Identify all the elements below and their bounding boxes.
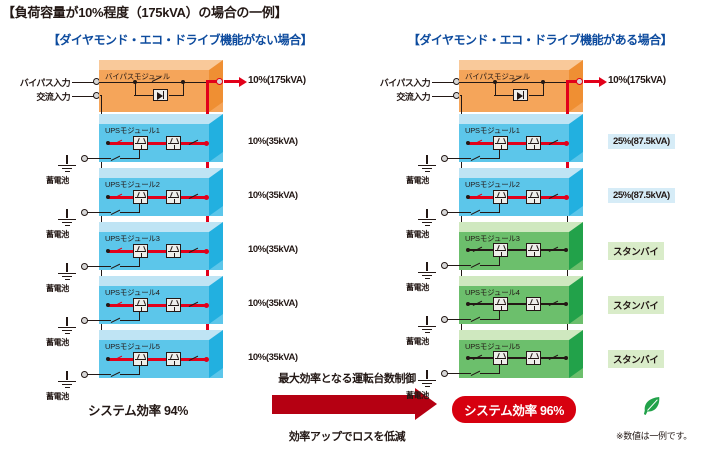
battery-icon-right-2 (418, 215, 436, 227)
ups-module-label-left-1: UPSモジュール1 (105, 125, 160, 136)
module-out-node-right-2 (564, 195, 569, 200)
battery-switch-left-2 (111, 209, 122, 216)
input-label-bypass-right: バイパス入力 (360, 76, 430, 89)
bypass-drop-b-left (183, 82, 184, 96)
module-switch-in-left-3 (113, 247, 124, 254)
battery-switch-left-3 (111, 263, 122, 270)
battery-label-left-5: 蓄電池 (46, 391, 69, 402)
battery-lead-right-5 (445, 373, 471, 374)
battery-switch-left-1 (111, 155, 122, 162)
battery-label-left-1: 蓄電池 (46, 175, 69, 186)
module-switch-in-left-4 (113, 301, 124, 308)
battery-icon-left-3 (58, 269, 76, 281)
battery-icon-left-5 (58, 377, 76, 389)
module-switch-out-right-3 (549, 246, 560, 253)
thyristor-icon-left (153, 89, 168, 101)
converter-a-left-2 (133, 190, 148, 204)
eco-leaf-icon (643, 396, 661, 416)
module-switch-out-left-3 (189, 247, 200, 254)
battery-icon-right-1 (418, 161, 436, 173)
input-lead-ac-right (432, 96, 454, 97)
battery-icon-left-1 (58, 161, 76, 173)
bypass-drop-a-left (135, 82, 136, 96)
battery-line-left-4 (120, 320, 140, 321)
battery-icon-right-5 (418, 376, 436, 388)
module-out-node-left-4 (204, 303, 209, 308)
panel-right: バイパス入力 交流入力 バイパスモジュール 10%(175kVA) UPSモジュ… (360, 0, 720, 449)
battery-label-right-4: 蓄電池 (406, 336, 429, 347)
system-efficiency-right: システム効率 96% (452, 396, 576, 423)
capacity-label-left-3: 10%(35kVA) (248, 244, 298, 255)
battery-lead-left-3 (85, 266, 111, 267)
converter-b-left-1 (166, 136, 181, 150)
battery-line-right-2 (480, 212, 500, 213)
battery-line-right-1 (480, 158, 500, 159)
module-switch-out-left-5 (189, 355, 200, 362)
converter-b-right-4 (526, 297, 541, 311)
battery-terminal-left-3 (81, 263, 88, 270)
battery-terminal-right-5 (441, 370, 448, 377)
output-arrow-right (584, 80, 600, 83)
capacity-label-right-4: スタンバイ (608, 296, 664, 314)
battery-switch-left-4 (111, 317, 122, 324)
battery-lead-left-5 (85, 374, 111, 375)
module-switch-out-left-1 (189, 139, 200, 146)
converter-a-right-4 (493, 297, 508, 311)
battery-line-left-3 (120, 266, 140, 267)
battery-terminal-right-3 (441, 262, 448, 269)
converter-a-left-3 (133, 244, 148, 258)
battery-lead-left-1 (85, 158, 111, 159)
battery-line-left-1 (120, 158, 140, 159)
input-lead-bypass-left (72, 82, 94, 83)
module-out-node-left-5 (204, 357, 209, 362)
module-switch-in-left-1 (113, 139, 124, 146)
capacity-label-left-4: 10%(35kVA) (248, 298, 298, 309)
ups-module-label-left-5: UPSモジュール5 (105, 341, 160, 352)
capacity-label-right-1: 25%(87.5kVA) (608, 134, 675, 149)
battery-lead-right-2 (445, 212, 471, 213)
bypass-lower-a-right (494, 95, 514, 96)
battery-switch-left-5 (111, 371, 122, 378)
battery-terminal-left-5 (81, 371, 88, 378)
output-terminal-left (216, 78, 223, 85)
battery-switch-right-4 (471, 316, 482, 323)
bypass-lower-b-right (529, 95, 544, 96)
module-switch-in-right-1 (473, 139, 484, 146)
bypass-lower-a-left (134, 95, 154, 96)
system-efficiency-left: システム効率 94% (88, 400, 188, 419)
battery-lead-right-4 (445, 319, 471, 320)
module-switch-in-left-5 (113, 355, 124, 362)
bypass-lower-b-left (169, 95, 184, 96)
battery-label-right-3: 蓄電池 (406, 282, 429, 293)
module-switch-in-left-2 (113, 193, 124, 200)
battery-line-right-3 (480, 265, 500, 266)
module-switch-in-right-5 (473, 354, 484, 361)
converter-b-left-4 (166, 298, 181, 312)
module-out-node-right-1 (564, 141, 569, 146)
battery-icon-right-4 (418, 322, 436, 334)
battery-label-left-3: 蓄電池 (46, 283, 69, 294)
capacity-label-left-2: 10%(35kVA) (248, 190, 298, 201)
module-switch-out-right-1 (549, 139, 560, 146)
bypass-switch-left (152, 76, 163, 83)
battery-label-left-4: 蓄電池 (46, 337, 69, 348)
capacity-label-right-5: スタンバイ (608, 350, 664, 368)
battery-line-left-2 (120, 212, 140, 213)
module-switch-out-left-4 (189, 301, 200, 308)
capacity-label-left-5: 10%(35kVA) (248, 352, 298, 363)
battery-terminal-right-4 (441, 316, 448, 323)
battery-switch-right-5 (471, 370, 482, 377)
battery-line-right-5 (480, 373, 500, 374)
converter-a-right-5 (493, 351, 508, 365)
ac-bus-join-right (460, 95, 462, 96)
bypass-module-right: バイパスモジュール (459, 60, 583, 112)
converter-b-left-5 (166, 352, 181, 366)
ups-module-label-right-2: UPSモジュール2 (465, 179, 520, 190)
converter-a-left-5 (133, 352, 148, 366)
output-label-left: 10%(175kVA) (248, 75, 306, 86)
ac-bus-join-left (100, 95, 102, 96)
battery-line-right-4 (480, 319, 500, 320)
battery-terminal-right-2 (441, 209, 448, 216)
module-switch-out-right-2 (549, 193, 560, 200)
input-label-ac-right: 交流入力 (360, 90, 430, 103)
converter-b-left-3 (166, 244, 181, 258)
thyristor-icon-right (513, 89, 528, 101)
battery-terminal-left-1 (81, 155, 88, 162)
bypass-drop-b-right (543, 82, 544, 96)
battery-switch-right-1 (471, 155, 482, 162)
converter-b-left-2 (166, 190, 181, 204)
ups-module-label-right-1: UPSモジュール1 (465, 125, 520, 136)
output-label-right: 10%(175kVA) (608, 75, 666, 86)
battery-icon-left-4 (58, 323, 76, 335)
panel-left: バイパス入力 交流入力 バイパスモジュール 10%(175kVA) UPSモジュ… (0, 0, 360, 449)
battery-label-right-2: 蓄電池 (406, 229, 429, 240)
battery-switch-right-2 (471, 209, 482, 216)
battery-switch-right-3 (471, 262, 482, 269)
battery-lead-right-1 (445, 158, 471, 159)
module-switch-in-right-3 (473, 246, 484, 253)
converter-a-right-1 (493, 136, 508, 150)
bypass-switch-right (512, 76, 523, 83)
ups-module-label-left-4: UPSモジュール4 (105, 287, 160, 298)
capacity-label-left-1: 10%(35kVA) (248, 136, 298, 147)
battery-terminal-left-4 (81, 317, 88, 324)
input-label-bypass-left: バイパス入力 (0, 76, 70, 89)
battery-lead-left-4 (85, 320, 111, 321)
battery-label-left-2: 蓄電池 (46, 229, 69, 240)
converter-a-left-1 (133, 136, 148, 150)
ups-module-label-left-3: UPSモジュール3 (105, 233, 160, 244)
battery-lead-right-3 (445, 265, 471, 266)
ups-module-label-left-2: UPSモジュール2 (105, 179, 160, 190)
converter-a-left-4 (133, 298, 148, 312)
converter-b-right-3 (526, 243, 541, 257)
module-switch-in-right-2 (473, 193, 484, 200)
module-switch-out-right-4 (549, 300, 560, 307)
battery-lead-left-2 (85, 212, 111, 213)
module-switch-in-right-4 (473, 300, 484, 307)
module-switch-out-right-5 (549, 354, 560, 361)
bypass-module-left: バイパスモジュール (99, 60, 223, 112)
capacity-label-right-2: 25%(87.5kVA) (608, 188, 675, 203)
battery-terminal-right-1 (441, 155, 448, 162)
battery-terminal-left-2 (81, 209, 88, 216)
battery-icon-left-2 (58, 215, 76, 227)
converter-a-right-3 (493, 243, 508, 257)
module-out-node-left-3 (204, 249, 209, 254)
input-lead-ac-left (72, 96, 94, 97)
converter-b-right-1 (526, 136, 541, 150)
module-switch-out-left-2 (189, 193, 200, 200)
battery-line-left-5 (120, 374, 140, 375)
battery-label-right-1: 蓄電池 (406, 175, 429, 186)
module-out-node-left-2 (204, 195, 209, 200)
converter-b-right-5 (526, 351, 541, 365)
battery-icon-right-3 (418, 268, 436, 280)
battery-label-right-5: 蓄電池 (406, 390, 429, 401)
converter-b-right-2 (526, 190, 541, 204)
module-out-node-left-1 (204, 141, 209, 146)
output-arrow-left (224, 80, 240, 83)
input-lead-bypass-right (432, 82, 454, 83)
capacity-label-right-3: スタンバイ (608, 242, 664, 260)
input-label-ac-left: 交流入力 (0, 90, 70, 103)
converter-a-right-2 (493, 190, 508, 204)
bypass-drop-a-right (495, 82, 496, 96)
output-terminal-right (576, 78, 583, 85)
